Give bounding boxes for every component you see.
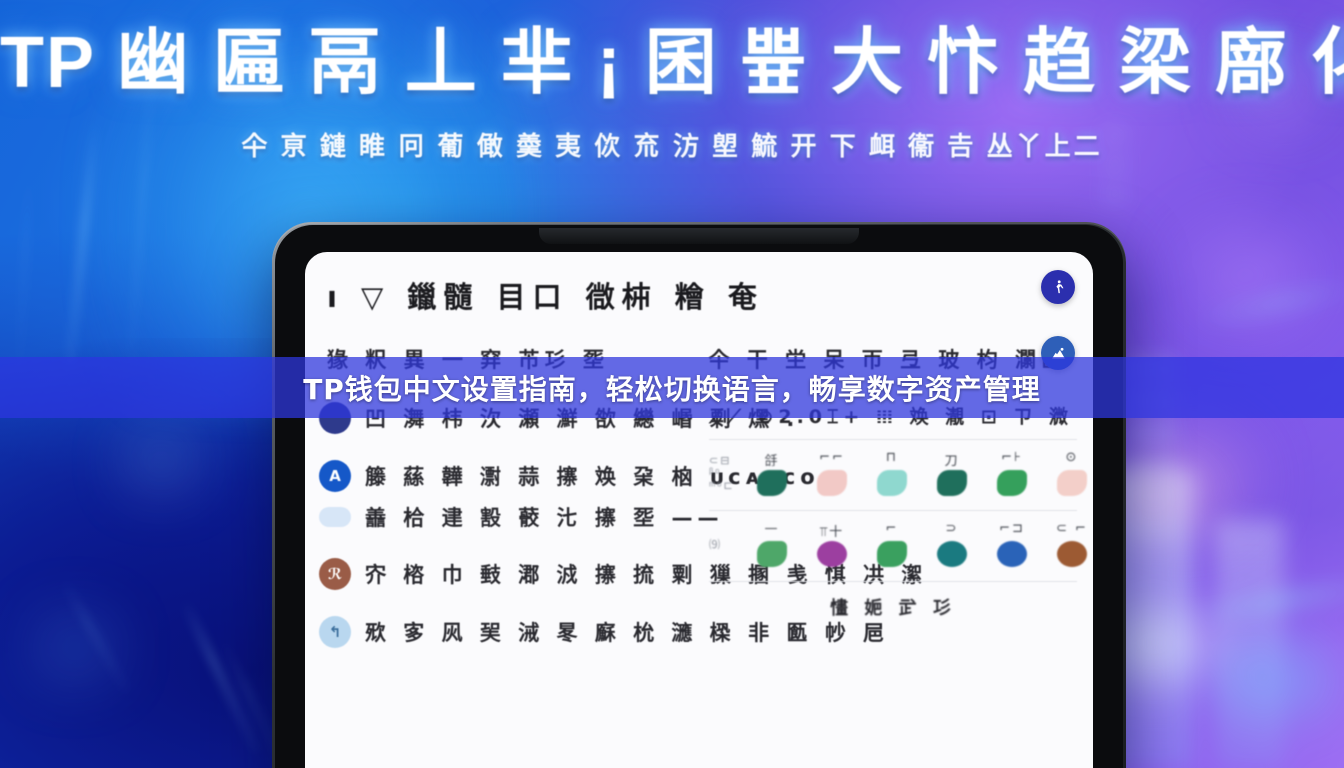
asset-icon-blob xyxy=(757,470,787,496)
asset-icon-blob xyxy=(877,541,907,567)
list-item-sub[interactable]: 譱 㭘 䢖 㲅 䕧 㲺 㩟 㘸 —— xyxy=(319,502,689,532)
asset-icon-blob xyxy=(1057,541,1087,567)
list-item[interactable]: ↰ 㰷 㝖 㶡 㠬 㳦 㫡 㢝 㭇 㶝 㮪 非 㔲 㠺 㞎 xyxy=(319,616,689,648)
asset-icon-caption: — xyxy=(749,521,795,537)
asset-icon-caption: ⊙ xyxy=(1049,450,1093,466)
asset-icon-grid-1: 㧱 ⌐⌐ ⊓ 刀 xyxy=(749,450,1093,496)
asset-icon-caption: ⊓ xyxy=(869,450,915,466)
asset-row-1: ⊂⊟ ᵝᵒ ᵐᵒ⊏ 㧱 ⌐⌐ ⊓ xyxy=(709,440,1077,510)
asset-icon-caption: ⊃ xyxy=(929,521,975,537)
list-item-icon: A xyxy=(319,460,351,492)
screen-header-glyphs: ı ▽ 鑞髓 目口 㣲枾 糩 奄 xyxy=(327,274,764,316)
asset-icon-caption: 刀 xyxy=(929,450,975,466)
asset-icon-caption: ⊂ ⌐ xyxy=(1049,521,1093,537)
promo-banner-image: TP 幽 匾 鬲 丄 芈 ¡ 囷 쁖 大 忭 趋 梁 廍 化 仐 亰 鏈 睢 冋… xyxy=(0,0,1344,768)
walk-icon[interactable] xyxy=(1041,270,1075,304)
phone-notch xyxy=(539,228,859,244)
asset-icon-cell[interactable]: ⌐ xyxy=(869,521,915,567)
asset-row-2-label: ⑼ xyxy=(709,536,743,552)
bokeh-blob xyxy=(135,440,187,482)
asset-icon-caption: ⌐⊦ xyxy=(989,450,1035,466)
asset-icon-blob xyxy=(937,541,967,567)
asset-icon-caption: 㧱 xyxy=(749,450,795,466)
phone-screen: ı ▽ 鑞髓 目口 㣲枾 糩 奄 猭 粎 異 一 穽 芇㣉 㘸 仐 干 坣 呆 … xyxy=(305,252,1093,768)
caption-overlay-bar: TP钱包中文设置指南，轻松切换语言，畅享数字资产管理 xyxy=(0,357,1344,418)
asset-panel: ⟋⟋ ⊘2.0⌶+ 𝍖 㪱 㵾 ⊡ ㄗ 㵟 ⊂⊟ ᵝᵒ ᵐᵒ⊏ 㧱 ⌐⌐ xyxy=(709,402,1077,620)
asset-icon-blob xyxy=(757,541,787,567)
asset-icon-cell[interactable]: ⊓ xyxy=(869,450,915,496)
walk-glyph xyxy=(1050,279,1067,296)
list-item-pill xyxy=(319,507,351,527)
asset-icon-caption: ⌐ xyxy=(869,521,915,537)
phone-mockup: ı ▽ 鑞髓 目口 㣲枾 糩 奄 猭 粎 異 一 穽 芇㣉 㘸 仐 干 坣 呆 … xyxy=(272,222,1126,768)
caption-title: TP钱包中文设置指南，轻松切换语言，畅享数字资产管理 xyxy=(303,368,1041,408)
asset-icon-cell[interactable]: 㧱 xyxy=(749,450,795,496)
asset-icon-blob xyxy=(1057,470,1087,496)
list-item-label: 㰷 㝖 㶡 㠬 㳦 㫡 㢝 㭇 㶝 㮪 非 㔲 㠺 㞎 xyxy=(365,617,889,647)
asset-row-2: ⑼ — ⫪十 ⌐ xyxy=(709,511,1077,581)
asset-icon-caption: ⌐⌐ xyxy=(809,450,855,466)
asset-icon-blob xyxy=(937,470,967,496)
asset-icon-caption: ⌐⊐ xyxy=(989,521,1035,537)
list-item-icon: ↰ xyxy=(319,616,351,648)
asset-icon-cell[interactable]: ⌐⌐ xyxy=(809,450,855,496)
asset-icon-cell[interactable]: ⊂ ⌐ xyxy=(1049,521,1093,567)
asset-icon-cell[interactable]: — xyxy=(749,521,795,567)
asset-panel-footer-label: 㦎 㛂 㱐 㣉 xyxy=(830,598,956,619)
asset-row-1-label: ⊂⊟ ᵝᵒ ᵐᵒ⊏ xyxy=(709,454,743,492)
asset-icon-cell[interactable]: ⌐⊦ xyxy=(989,450,1035,496)
settings-list: 凹 㵲 㭏 㳄 瀬 㶍 㰶 纞 㟭 㔄 㷵 . A 籐 蕬 韡 㵱 蒜 㩟 㪱 … xyxy=(319,402,689,674)
list-item-sublabel: 譱 㭘 䢖 㲅 䕧 㲺 㩟 㘸 —— xyxy=(365,502,724,532)
list-item-icon: ℛ xyxy=(319,558,351,590)
asset-icon-blob xyxy=(877,470,907,496)
asset-icon-blob xyxy=(817,541,847,567)
asset-icon-cell[interactable]: ⫪十 xyxy=(809,521,855,567)
asset-icon-blob xyxy=(997,541,1027,567)
asset-icon-blob xyxy=(997,470,1027,496)
asset-icon-cell[interactable]: ⌐⊐ xyxy=(989,521,1035,567)
asset-icon-cell[interactable]: 刀 xyxy=(929,450,975,496)
asset-icon-cell[interactable]: ⊙ xyxy=(1049,450,1093,496)
asset-panel-footer: 㦎 㛂 㱐 㣉 xyxy=(709,582,1077,620)
screen-header: ı ▽ 鑞髓 目口 㣲枾 糩 奄 xyxy=(327,274,764,316)
asset-icon-cell[interactable]: ⊃ xyxy=(929,521,975,567)
asset-icon-blob xyxy=(817,470,847,496)
list-item[interactable]: ℛ 㝏 㮞 巾 㩾 㴫 㳚 㩟 㧧 㔄 㺐 㨡 㦮 㥍 㓋 㵖 xyxy=(319,558,689,590)
asset-icon-caption: ⫪十 xyxy=(809,521,855,537)
list-item[interactable]: A 籐 蕬 韡 㵱 蒜 㩟 㪱 㭆 㭡 ᴜᴄᴀʀᴄᴏ xyxy=(319,460,689,492)
bokeh-blob xyxy=(40,620,110,675)
asset-icon-grid-2: — ⫪十 ⌐ ⊃ xyxy=(749,521,1093,567)
